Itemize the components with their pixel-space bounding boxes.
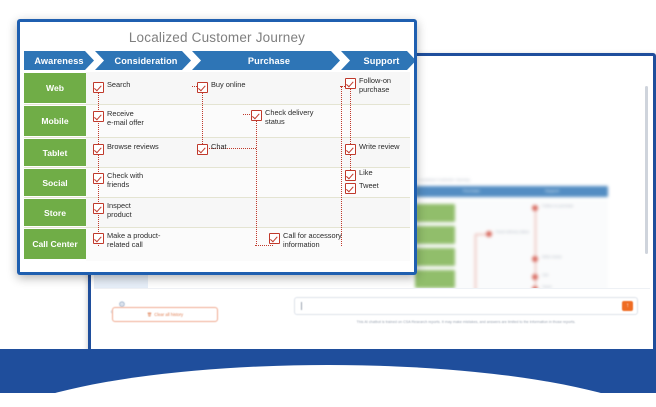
touchpoint-label: Search [107,81,130,90]
stage-consideration[interactable]: Consideration [95,51,191,70]
row-background [86,198,410,227]
touchpoint-label: Follow-on purchase [359,77,391,94]
touchpoint-browse-reviews[interactable]: Browse reviews [93,143,159,155]
arrow-up-icon: ↑ [626,303,629,309]
checkbox-icon[interactable] [93,82,104,93]
touchpoint-make-product-related-call[interactable]: Make a product- related call [93,232,160,249]
checkbox-icon[interactable] [93,233,104,244]
background-window-scrollbar[interactable] [645,86,648,254]
touchpoint-label: Inspect product [107,202,132,219]
thumbnail-title: Localized Customer Journey [419,177,470,182]
row-divider [24,137,410,138]
thumbnail-stage-bar: Purchase Support [415,186,608,197]
journey-map-page: Localized Customer Journey Awareness Con… [20,22,414,272]
checkbox-icon[interactable] [93,111,104,122]
thumbnail-channel-cell [415,204,455,222]
row-divider [24,197,410,198]
thumbnail-connector [475,234,476,292]
thumbnail-channel-cell [415,248,455,266]
touchpoint-receive-email-offer[interactable]: Receive e-mail offer [93,110,144,127]
checkbox-icon[interactable] [345,144,356,155]
thumbnail-node [532,205,538,211]
touchpoint-label: Browse reviews [107,143,159,152]
checkbox-icon[interactable] [269,233,280,244]
thumbnail-label: Write review [542,255,562,259]
connector-support-spine [341,86,342,246]
background-window-toolbar: ⚙ Configuration 🗑 Clear all history ↑ Th… [94,288,650,341]
chat-input[interactable]: ↑ [294,297,638,315]
checkbox-icon[interactable] [197,144,208,155]
stage-label: Awareness [34,56,83,66]
trash-icon: 🗑 [147,312,152,318]
channel-label: Mobile [41,116,68,126]
connector-support-followon-down [350,86,351,174]
touchpoint-inspect-product[interactable]: Inspect product [93,202,132,219]
clear-all-history-label: Clear all history [154,312,183,317]
channel-mobile[interactable]: Mobile [24,106,86,136]
channel-label: Web [46,83,64,93]
channel-store[interactable]: Store [24,199,86,226]
stage-label: Consideration [114,56,177,66]
thumbnail-stage-label: Support [545,188,559,193]
channel-web[interactable]: Web [24,73,86,103]
row-divider [24,167,410,168]
thumbnail-node [532,274,538,280]
touchpoint-search[interactable]: Search [93,81,130,93]
checkbox-icon[interactable] [345,183,356,194]
checkbox-icon[interactable] [93,173,104,184]
touchpoint-label: Check with friends [107,172,143,189]
page-title: Localized Customer Journey [20,30,414,45]
journey-grid: Web Mobile Tablet Social Store Call Cent… [24,72,410,268]
channel-social[interactable]: Social [24,169,86,196]
send-button[interactable]: ↑ [622,301,633,311]
checkbox-icon[interactable] [197,82,208,93]
checkbox-icon[interactable] [345,170,356,181]
stage-awareness[interactable]: Awareness [24,51,94,70]
touchpoint-label: Like [359,169,373,178]
checkbox-icon[interactable] [93,144,104,155]
row-divider [24,104,410,105]
clear-all-history-button[interactable]: 🗑 Clear all history [112,307,218,322]
connector-purchase-buy-to-chat [202,86,203,148]
channel-label: Store [44,208,66,218]
channel-call-center[interactable]: Call Center [24,229,86,259]
checkbox-icon[interactable] [93,203,104,214]
connector-purchase-spine [256,114,257,246]
touchpoint-tweet[interactable]: Tweet [345,182,379,194]
touchpoint-like[interactable]: Like [345,169,373,181]
touchpoint-label: Make a product- related call [107,232,160,249]
touchpoint-label: Check delivery status [265,109,313,126]
decorative-bottom-mask [0,393,656,407]
thumbnail-node [532,256,538,262]
touchpoint-follow-on-purchase[interactable]: Follow-on purchase [345,77,391,94]
channel-tablet[interactable]: Tablet [24,139,86,166]
channel-label: Call Center [32,239,77,249]
touchpoint-label: Write review [359,143,400,152]
journey-map-window[interactable]: Localized Customer Journey Awareness Con… [17,19,417,275]
touchpoint-chat[interactable]: Chat [197,143,227,155]
text-caret [301,302,302,310]
stage-support[interactable]: Support [341,51,414,70]
touchpoint-buy-online[interactable]: Buy online [197,81,246,93]
touchpoint-label: Tweet [359,182,379,191]
channel-label: Tablet [43,148,68,158]
touchpoint-write-review[interactable]: Write review [345,143,400,155]
screenshot-stage: anslation (PEMT). These options provide … [0,0,656,407]
channel-label: Social [42,178,67,188]
touchpoint-label: Chat [211,143,227,152]
thumbnail-channel-cell [415,270,455,288]
touchpoint-label: Receive e-mail offer [107,110,144,127]
thumbnail-label: Like [542,273,549,277]
stage-label: Purchase [248,56,290,66]
checkbox-icon[interactable] [345,78,356,89]
touchpoint-label: Call for accessory information [283,232,342,249]
stage-label: Support [364,56,400,66]
thumbnail-label: Follow-on purchase [542,204,588,208]
checkbox-icon[interactable] [251,110,262,121]
stage-bar: Awareness Consideration Purchase Support [24,51,410,70]
touchpoint-call-for-accessory-information[interactable]: Call for accessory information [269,232,342,249]
thumbnail-label: Check delivery status [495,230,541,234]
touchpoint-label: Buy online [211,81,246,90]
row-divider [24,227,410,228]
touchpoint-check-with-friends[interactable]: Check with friends [93,172,143,189]
thumbnail-node [486,231,492,237]
thumbnail-stage-label: Purchase [463,188,480,193]
chat-disclaimer: This AI chatbot is trained on CSA Resear… [294,320,638,324]
thumbnail-channel-cell [415,226,455,244]
stage-purchase[interactable]: Purchase [192,51,340,70]
touchpoint-check-delivery-status[interactable]: Check delivery status [251,109,313,126]
